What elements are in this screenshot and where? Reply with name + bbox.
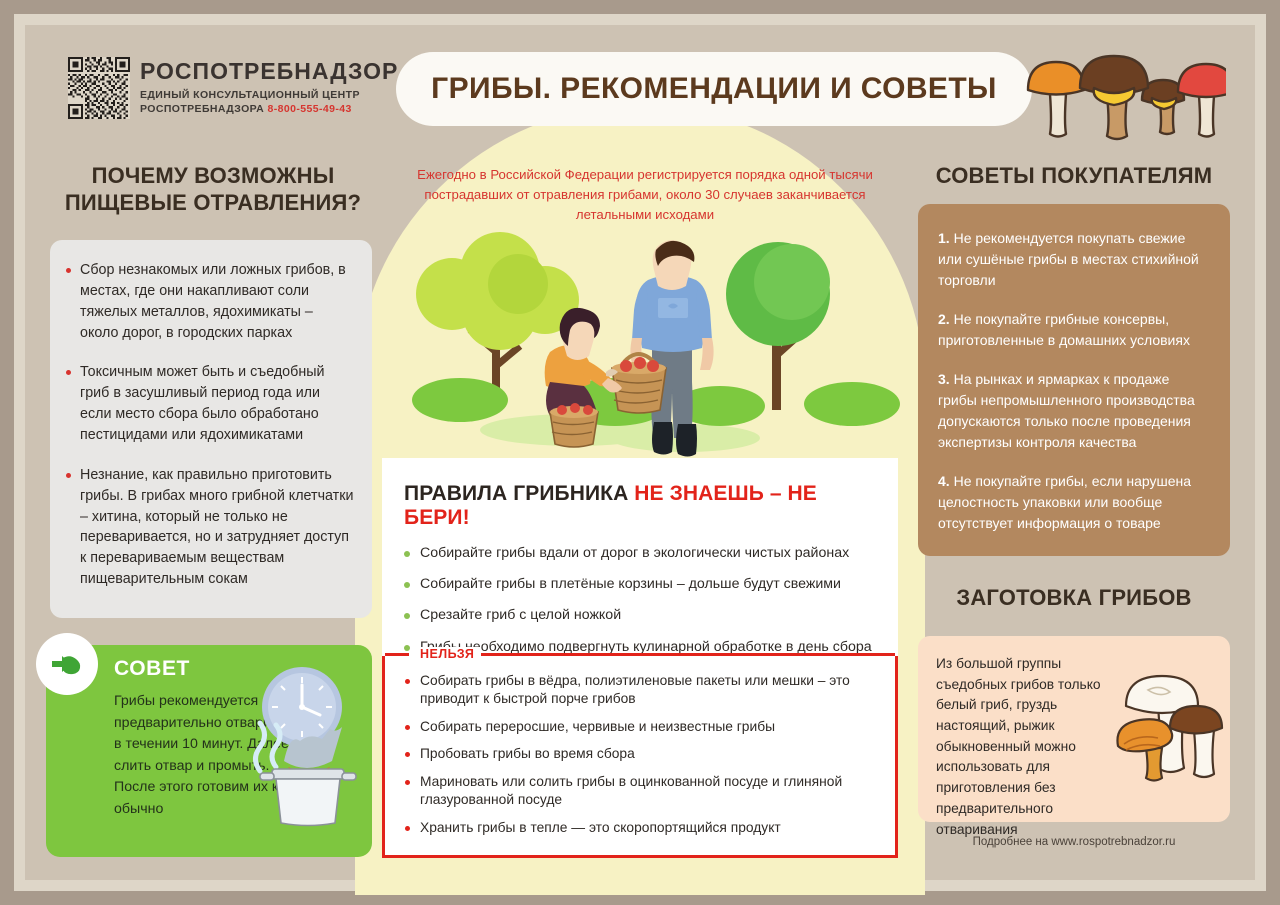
buyer-item-number: 2.: [938, 311, 950, 327]
forest-mushroom-pickers-illustration: [400, 232, 900, 458]
qr-code-icon: [68, 57, 130, 119]
forbidden-text: Пробовать грибы во время сбора: [420, 745, 635, 763]
list-item: Незнание, как правильно приготовить гриб…: [66, 465, 354, 590]
section-heading-storage: ЗАГОТОВКА ГРИБОВ: [916, 585, 1232, 612]
buyer-item-number: 4.: [938, 473, 950, 489]
footer-note: Подробнее на www.rospotrebnadzor.ru: [916, 836, 1232, 848]
brand-subtitle-line2: РОСПОТРЕБНАДЗОРА: [140, 103, 264, 115]
list-item: Собирать переросшие, червивые и неизвест…: [405, 718, 881, 736]
list-item: Токсичным может быть и съедобный гриб в …: [66, 362, 354, 445]
cause-text: Незнание, как правильно приготовить гриб…: [80, 465, 354, 590]
forbidden-text: Собирать грибы в вёдра, полиэтиленовые п…: [420, 672, 881, 709]
four-mushrooms-illustration: [1010, 38, 1226, 142]
mushroom-trio-illustration: [1108, 662, 1226, 792]
list-item: Сбор незнакомых или ложных грибов, в мес…: [66, 260, 354, 343]
rule-text: Собирайте грибы вдали от дорог в экологи…: [420, 544, 849, 563]
bullet-dot-icon: [405, 679, 410, 684]
buyer-item-text: На рынках и ярмарках к продаже грибы неп…: [938, 371, 1195, 450]
rule-text: Срезайте гриб с целой ножкой: [420, 606, 621, 625]
rule-text: Собирайте грибы в плетёные корзины – дол…: [420, 575, 841, 594]
page-title: ГРИБЫ. РЕКОМЕНДАЦИИ И СОВЕТЫ: [431, 72, 997, 106]
list-item: Срезайте гриб с целой ножкой: [404, 606, 882, 625]
statistics-banner: Ежегодно в Российской Федерации регистри…: [400, 165, 890, 224]
bullet-dot-icon: [405, 780, 410, 785]
list-item: 2. Не покупайте грибные консервы, пригот…: [938, 309, 1210, 351]
buyer-item-number: 3.: [938, 371, 950, 387]
section-heading-buyers: СОВЕТЫ ПОКУПАТЕЛЯМ: [916, 163, 1232, 190]
list-item: Собирайте грибы в плетёные корзины – дол…: [404, 575, 882, 594]
buyer-item-text: Не покупайте грибные консервы, приготовл…: [938, 311, 1190, 348]
buyer-item-text: Не покупайте грибы, если нарушена целост…: [938, 473, 1191, 531]
bullet-dot-icon: [405, 752, 410, 757]
rules-title-main: ПРАВИЛА ГРИБНИКА: [404, 482, 628, 505]
brand-block: РОСПОТРЕБНАДЗОР ЕДИНЫЙ КОНСУЛЬТАЦИОННЫЙ …: [68, 57, 398, 119]
forbidden-label: НЕЛЬЗЯ: [413, 647, 481, 661]
bullet-dot-icon: [405, 725, 410, 730]
buyer-item-number: 1.: [938, 230, 950, 246]
brand-subtitle: ЕДИНЫЙ КОНСУЛЬТАЦИОННЫЙ ЦЕНТР РОСПОТРЕБН…: [140, 88, 398, 116]
bullet-dot-icon: [405, 826, 410, 831]
rules-panel: ПРАВИЛА ГРИБНИКА НЕ ЗНАЕШЬ – НЕ БЕРИ! Со…: [382, 458, 898, 858]
forbidden-box: НЕЛЬЗЯ Собирать грибы в вёдра, полиэтиле…: [382, 656, 898, 858]
poster-root: РОСПОТРЕБНАДЗОР ЕДИНЫЙ КОНСУЛЬТАЦИОННЫЙ …: [0, 0, 1280, 905]
cause-text: Токсичным может быть и съедобный гриб в …: [80, 362, 354, 445]
list-item: Мариновать или солить грибы в оцинкованн…: [405, 773, 881, 810]
cooking-pot-with-clock-illustration: [216, 663, 364, 833]
forbidden-text: Хранить грибы в тепле — это скоропортящи…: [420, 819, 781, 837]
bullet-dot-icon: [404, 645, 410, 651]
causes-card: Сбор незнакомых или ложных грибов, в мес…: [50, 240, 372, 618]
bullet-dot-icon: [404, 613, 410, 619]
storage-text: Из большой группы съедобных грибов тольк…: [936, 654, 1132, 840]
list-item: Собирайте грибы вдали от дорог в экологи…: [404, 544, 882, 563]
list-item: 4. Не покупайте грибы, если нарушена цел…: [938, 471, 1210, 534]
brand-subtitle-line1: ЕДИНЫЙ КОНСУЛЬТАЦИОННЫЙ ЦЕНТР: [140, 89, 360, 101]
bullet-dot-icon: [66, 370, 71, 375]
buyers-card: 1. Не рекомендуется покупать свежие или …: [918, 204, 1230, 556]
poster-title-bar: ГРИБЫ. РЕКОМЕНДАЦИИ И СОВЕТЫ: [396, 52, 1032, 126]
buyer-item-text: Не рекомендуется покупать свежие или суш…: [938, 230, 1199, 288]
brand-name: РОСПОТРЕБНАДЗОР: [140, 60, 398, 83]
list-item: Пробовать грибы во время сбора: [405, 745, 881, 763]
pointing-hand-icon: [50, 650, 84, 678]
bullet-dot-icon: [66, 473, 71, 478]
forbidden-text: Собирать переросшие, червивые и неизвест…: [420, 718, 775, 736]
list-item: Собирать грибы в вёдра, полиэтиленовые п…: [405, 672, 881, 709]
tip-title: СОВЕТ: [114, 657, 190, 681]
forbidden-text: Мариновать или солить грибы в оцинкованн…: [420, 773, 881, 810]
bullet-dot-icon: [404, 551, 410, 557]
list-item: 3. На рынках и ярмарках к продаже грибы …: [938, 369, 1210, 453]
bullet-dot-icon: [66, 268, 71, 273]
storage-card: Из большой группы съедобных грибов тольк…: [918, 636, 1230, 822]
list-item: Хранить грибы в тепле — это скоропортящи…: [405, 819, 881, 837]
cause-text: Сбор незнакомых или ложных грибов, в мес…: [80, 260, 354, 343]
bullet-dot-icon: [404, 582, 410, 588]
hotline-phone[interactable]: 8-800-555-49-43: [267, 103, 351, 115]
rules-title: ПРАВИЛА ГРИБНИКА НЕ ЗНАЕШЬ – НЕ БЕРИ!: [404, 482, 882, 530]
section-heading-causes: ПОЧЕМУ ВОЗМОЖНЫ ПИЩЕВЫЕ ОТРАВЛЕНИЯ?: [48, 163, 378, 217]
tip-badge: [36, 633, 98, 695]
list-item: 1. Не рекомендуется покупать свежие или …: [938, 228, 1210, 291]
tip-card: СОВЕТ Грибы рекомендуется предварительно…: [46, 645, 372, 857]
